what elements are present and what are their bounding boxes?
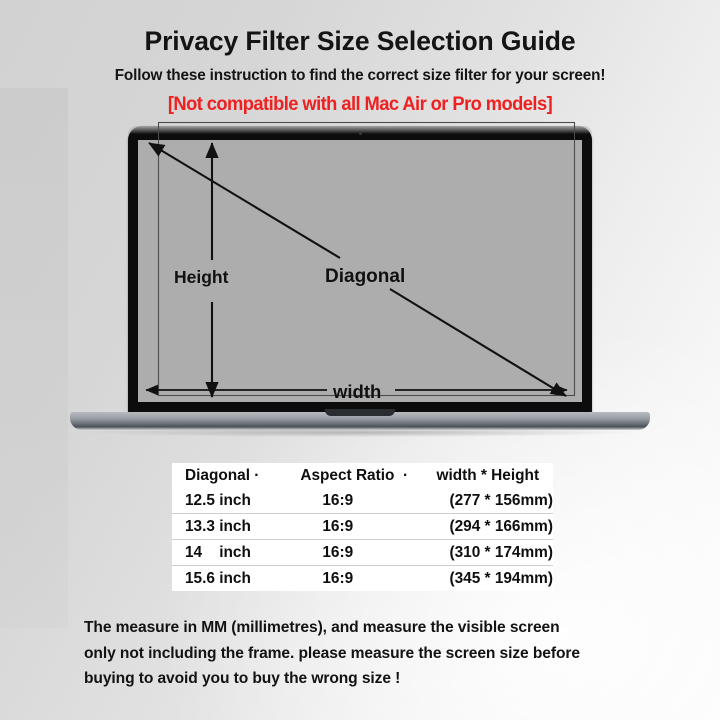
cell-diagonal: 13.3 inch bbox=[172, 514, 292, 540]
webcam-icon bbox=[359, 132, 362, 135]
table-row: 14 inch 16:9 (310 * 174mm) bbox=[172, 540, 553, 566]
cell-dimensions: (310 * 174mm) bbox=[432, 540, 553, 566]
cell-dimensions: (294 * 166mm) bbox=[432, 514, 553, 540]
cell-diagonal: 12.5 inch bbox=[172, 488, 292, 514]
footer-note-line-3: buying to avoid you to buy the wrong siz… bbox=[84, 666, 640, 692]
table-header-width-height: width * Height bbox=[432, 463, 553, 488]
cell-dimensions: (345 * 194mm) bbox=[432, 566, 553, 592]
privacy-filter-guide-page: Privacy Filter Size Selection Guide Foll… bbox=[0, 0, 720, 720]
footer-note-line-2: only not including the frame. please mea… bbox=[84, 641, 640, 667]
laptop-base bbox=[70, 412, 650, 430]
cell-aspect-ratio: 16:9 bbox=[292, 488, 432, 514]
table-header-aspect-ratio: Aspect Ratio · bbox=[292, 463, 432, 488]
cell-aspect-ratio: 16:9 bbox=[292, 514, 432, 540]
size-spec-table: Diagonal · Aspect Ratio · width * Height… bbox=[172, 463, 553, 591]
cell-dimensions: (277 * 156mm) bbox=[432, 488, 553, 514]
laptop-illustration bbox=[0, 0, 720, 450]
footer-note-line-1: The measure in MM (millimetres), and mea… bbox=[84, 615, 640, 641]
laptop-screen bbox=[138, 140, 582, 402]
table-header-row: Diagonal · Aspect Ratio · width * Height bbox=[172, 463, 553, 488]
table-row: 13.3 inch 16:9 (294 * 166mm) bbox=[172, 514, 553, 540]
table-row: 15.6 inch 16:9 (345 * 194mm) bbox=[172, 566, 553, 592]
laptop-hinge-notch bbox=[325, 409, 395, 416]
cell-diagonal: 15.6 inch bbox=[172, 566, 292, 592]
cell-diagonal: 14 inch bbox=[172, 540, 292, 566]
cell-aspect-ratio: 16:9 bbox=[292, 566, 432, 592]
footer-note: The measure in MM (millimetres), and mea… bbox=[84, 615, 640, 692]
table-header-diagonal: Diagonal · bbox=[172, 463, 292, 488]
cell-aspect-ratio: 16:9 bbox=[292, 540, 432, 566]
table-row: 12.5 inch 16:9 (277 * 156mm) bbox=[172, 488, 553, 514]
